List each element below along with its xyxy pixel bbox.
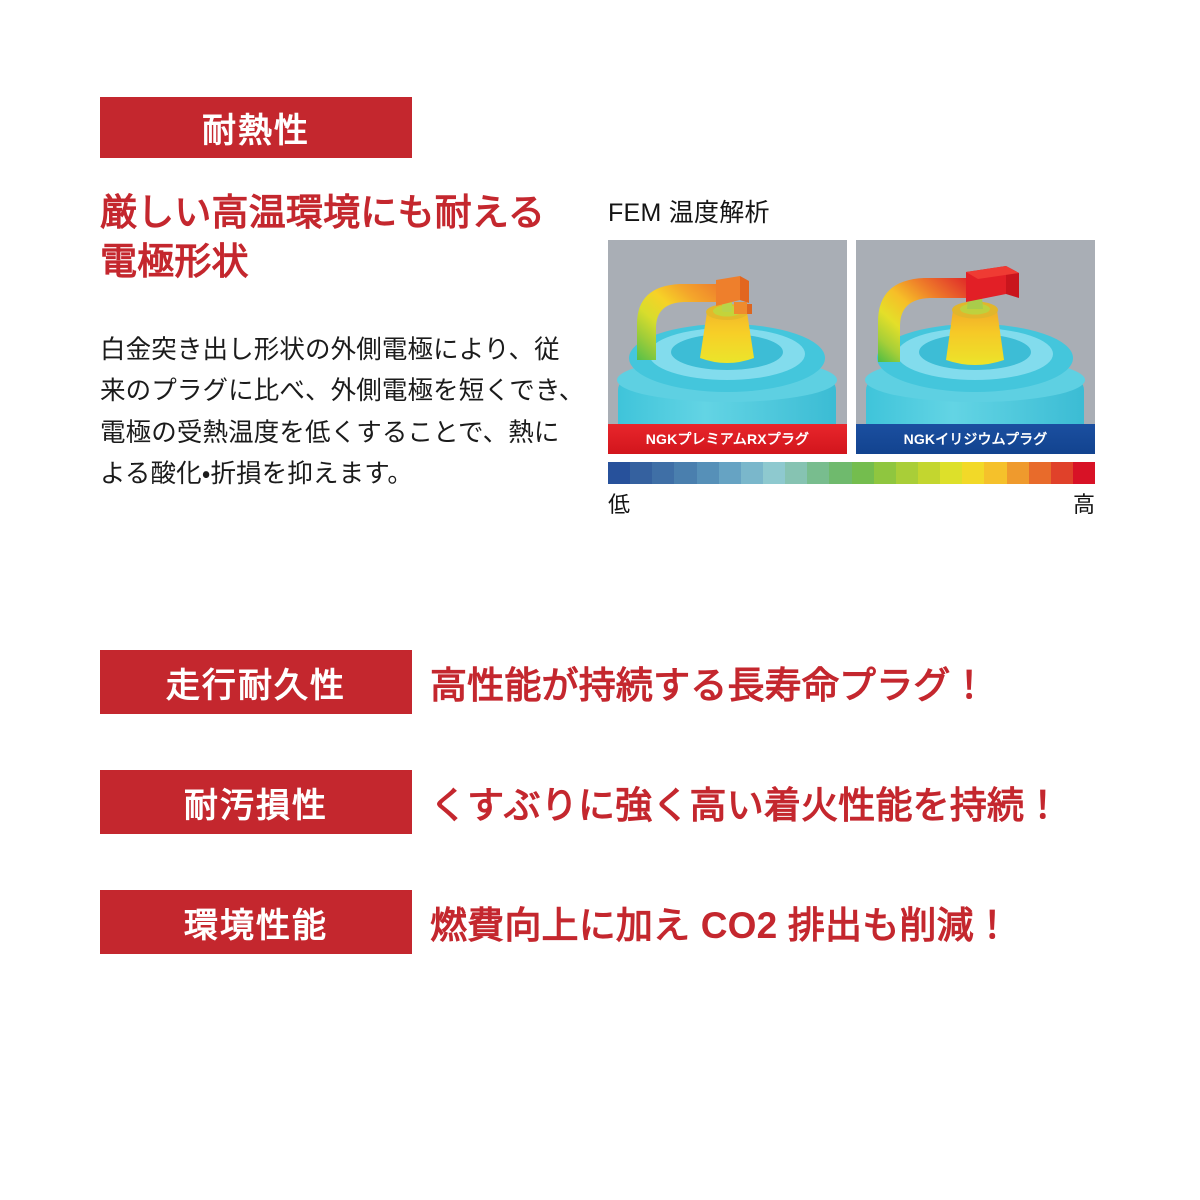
feature-row-driving-durability: 走行耐久性 高性能が持続する長寿命プラグ！ bbox=[0, 636, 1200, 756]
fem-panel-iridium: NGKイリジウムプラグ bbox=[856, 240, 1095, 454]
fem-color-scale-swatch-1 bbox=[630, 462, 652, 484]
fem-color-scale-swatch-9 bbox=[807, 462, 829, 484]
fem-thermal-image-premium-rx bbox=[608, 240, 847, 454]
heat-resistance-badge: 耐熱性 bbox=[100, 97, 412, 158]
fem-color-scale-labels: 低 高 bbox=[608, 487, 1095, 519]
fem-color-scale-swatch-2 bbox=[652, 462, 674, 484]
fem-color-scale-swatch-14 bbox=[918, 462, 940, 484]
feature-text-environmental-performance: 燃費向上に加え CO2 排出も削減！ bbox=[430, 890, 1011, 954]
feature-badge-environmental-performance: 環境性能 bbox=[100, 890, 412, 954]
fem-color-scale-swatch-11 bbox=[852, 462, 874, 484]
fem-color-scale-swatch-5 bbox=[719, 462, 741, 484]
fem-color-scale-swatch-0 bbox=[608, 462, 630, 484]
fem-scale-high-label: 高 bbox=[1073, 487, 1095, 519]
fem-color-scale-swatch-16 bbox=[962, 462, 984, 484]
fem-color-scale-swatch-7 bbox=[763, 462, 785, 484]
fem-color-scale-swatch-8 bbox=[785, 462, 807, 484]
fem-color-scale-swatch-10 bbox=[829, 462, 851, 484]
feature-row-environmental-performance: 環境性能 燃費向上に加え CO2 排出も削減！ bbox=[0, 876, 1200, 996]
fem-thermal-image-iridium bbox=[856, 240, 1095, 454]
fem-color-scale-bar bbox=[608, 462, 1095, 484]
fem-caption-premium-rx: NGKプレミアムRXプラグ bbox=[608, 424, 847, 454]
heat-resistance-section: 耐熱性 厳しい高温環境にも耐える電極形状 白金突き出し形状の外側電極により、従来… bbox=[0, 0, 1200, 600]
fem-color-scale: 低 高 bbox=[608, 462, 1095, 519]
fem-analysis-title: FEM 温度解析 bbox=[608, 196, 1095, 230]
fem-color-scale-swatch-4 bbox=[697, 462, 719, 484]
fem-color-scale-swatch-21 bbox=[1073, 462, 1095, 484]
fem-color-scale-swatch-3 bbox=[674, 462, 696, 484]
fem-color-scale-swatch-12 bbox=[874, 462, 896, 484]
fem-panel-group: NGKプレミアムRXプラグ bbox=[608, 240, 1095, 454]
fem-color-scale-swatch-18 bbox=[1007, 462, 1029, 484]
feature-row-fouling-resistance: 耐汚損性 くすぶりに強く高い着火性能を持続！ bbox=[0, 756, 1200, 876]
fem-caption-iridium: NGKイリジウムプラグ bbox=[856, 424, 1095, 454]
heat-resistance-headline: 厳しい高温環境にも耐える電極形状 bbox=[100, 188, 600, 286]
fem-color-scale-swatch-20 bbox=[1051, 462, 1073, 484]
heat-resistance-body-text: 白金突き出し形状の外側電極により、従来のプラグに比べ、外側電極を短くでき、電極の… bbox=[100, 330, 585, 495]
feature-text-driving-durability: 高性能が持続する長寿命プラグ！ bbox=[430, 650, 988, 714]
feature-rows-section: 走行耐久性 高性能が持続する長寿命プラグ！ 耐汚損性 くすぶりに強く高い着火性能… bbox=[0, 636, 1200, 996]
fem-color-scale-swatch-17 bbox=[984, 462, 1006, 484]
fem-panel-premium-rx: NGKプレミアムRXプラグ bbox=[608, 240, 847, 454]
fem-analysis-figure: FEM 温度解析 bbox=[608, 196, 1095, 519]
feature-text-fouling-resistance: くすぶりに強く高い着火性能を持続！ bbox=[430, 770, 1061, 834]
fem-color-scale-swatch-13 bbox=[896, 462, 918, 484]
fem-color-scale-swatch-15 bbox=[940, 462, 962, 484]
fem-scale-low-label: 低 bbox=[608, 487, 630, 519]
feature-badge-fouling-resistance: 耐汚損性 bbox=[100, 770, 412, 834]
fem-color-scale-swatch-19 bbox=[1029, 462, 1051, 484]
feature-badge-driving-durability: 走行耐久性 bbox=[100, 650, 412, 714]
fem-color-scale-swatch-6 bbox=[741, 462, 763, 484]
